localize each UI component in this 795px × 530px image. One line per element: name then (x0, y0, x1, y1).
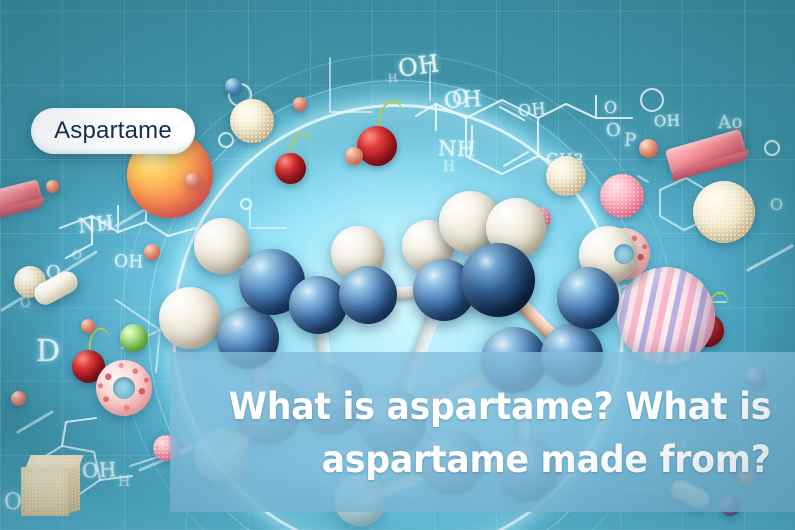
hero-illustration: OHHOOHNHHOHOOHCH3NHHOHOODOPAoOHOOHOOHC6H… (0, 0, 795, 530)
vignette-overlay (0, 0, 795, 530)
